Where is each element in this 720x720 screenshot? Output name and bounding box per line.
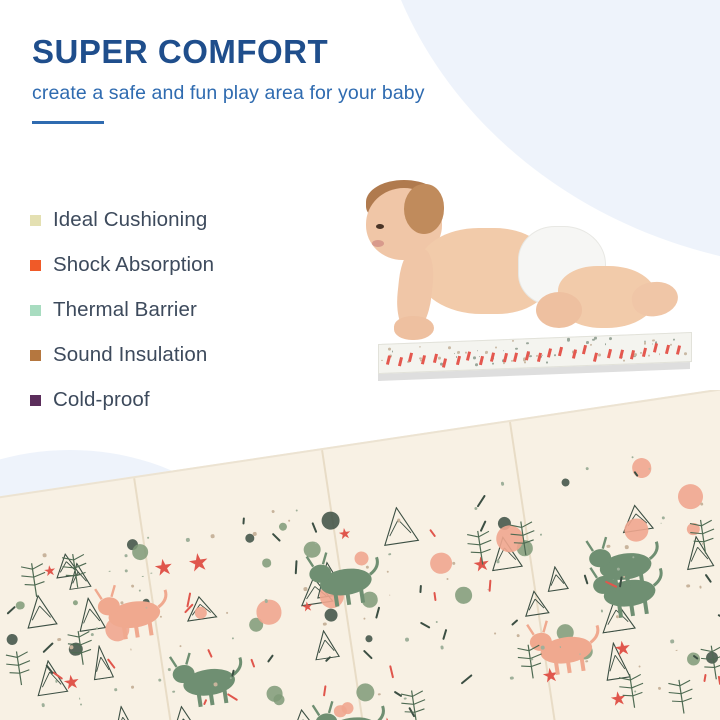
mat-speck [529, 355, 532, 358]
mat-dash-motif [419, 585, 422, 593]
mat-speck [512, 340, 514, 342]
mat-speck [657, 687, 660, 690]
mat-speck [323, 622, 327, 626]
mat-red-dash [513, 353, 518, 362]
mat-tree-motif [379, 504, 420, 546]
baby-mouth [372, 240, 384, 247]
mat-red-dash [408, 352, 413, 361]
baby-hair-top [404, 184, 444, 234]
mat-speck [392, 350, 393, 352]
mat-speck [80, 703, 83, 706]
mat-red-dash [386, 356, 391, 365]
mat-dash-motif [323, 685, 327, 696]
list-item: Ideal Cushioning [30, 208, 214, 232]
mat-speck [179, 645, 182, 648]
mat-speck [494, 632, 496, 634]
mat-speck [554, 354, 555, 356]
mat-tree-motif [109, 704, 138, 720]
mat-red-dash [433, 354, 438, 363]
mat-dash-motif [705, 574, 712, 583]
page-subtitle: create a safe and fun play area for your… [32, 82, 425, 105]
mat-speck [600, 609, 603, 612]
bullet-square-icon [30, 350, 41, 361]
mat-speck [124, 569, 128, 573]
mat-speck [623, 359, 625, 361]
mat-leaf-motif [61, 624, 101, 674]
mat-speck [661, 516, 665, 520]
mat-speck [598, 353, 601, 356]
mat-animal-motif [303, 691, 398, 720]
mat-speck [448, 346, 451, 349]
mat-leaf-motif [662, 673, 702, 720]
mat-speck [676, 649, 678, 651]
mat-speck [457, 351, 460, 354]
mat-speck [366, 565, 369, 568]
mat-red-dash [665, 345, 670, 354]
list-item: Cold-proof [30, 388, 214, 412]
mat-speck [125, 554, 128, 557]
mat-speck [419, 346, 420, 347]
mat-speck [503, 350, 504, 351]
mat-dash-motif [363, 650, 373, 660]
mat-speck [109, 570, 111, 572]
mat-red-dash [607, 349, 612, 358]
mat-speck [438, 357, 441, 360]
mat-speck [114, 688, 117, 691]
mat-leaf-motif [511, 638, 551, 688]
baby-hand [394, 316, 434, 340]
mat-speck [158, 678, 162, 682]
mat-speck [648, 354, 650, 356]
mat-star-motif: ★ [186, 550, 211, 577]
mat-speck [440, 646, 444, 650]
mat-speck [404, 637, 408, 641]
mat-speck [644, 342, 646, 345]
mat-red-dash [642, 348, 647, 357]
mat-surface-print: ★★★★★★★★★★★★★★★★ [0, 390, 720, 720]
mat-red-dash [582, 345, 587, 354]
mat-speck [606, 544, 610, 548]
mat-red-dash [479, 356, 484, 365]
mat-speck [452, 562, 455, 565]
mat-leaf-motif [55, 547, 95, 597]
mat-speck [609, 337, 612, 340]
mat-speck [90, 633, 93, 636]
mat-dash-motif [429, 529, 436, 537]
list-item: Thermal Barrier [30, 298, 214, 322]
mat-speck [659, 353, 661, 355]
mat-dash-motif [7, 605, 16, 614]
mat-speck [495, 346, 497, 348]
mat-dot-motif [262, 558, 271, 567]
mat-dot-motif [454, 586, 473, 605]
mat-speck [542, 354, 544, 356]
baby-photo [360, 170, 700, 380]
mat-speck [435, 621, 438, 624]
mat-star-motif: ★ [613, 639, 633, 661]
mat-dash-motif [311, 522, 317, 533]
mat-dot-motif [6, 633, 19, 646]
mat-leaf-motif [394, 684, 434, 720]
mat-dash-motif [375, 607, 380, 619]
mat-speck [397, 519, 401, 523]
list-item: Shock Absorption [30, 253, 214, 277]
mat-dash-motif [389, 665, 394, 678]
bullet-square-icon [30, 215, 41, 226]
mat-speck [546, 362, 547, 363]
mat-speck [252, 532, 256, 536]
mat-dash-motif [295, 561, 298, 575]
list-item: Sound Insulation [30, 343, 214, 367]
mat-speck [477, 350, 478, 351]
mat-speck [592, 339, 594, 342]
mat-red-dash [558, 347, 563, 356]
mat-red-dash [547, 348, 552, 357]
mat-speck [139, 590, 141, 592]
mat-speck [485, 352, 487, 354]
feature-label: Ideal Cushioning [53, 208, 207, 232]
mat-speck [652, 339, 654, 341]
mat-speck [232, 637, 234, 639]
mat-speck [475, 364, 477, 367]
mat-leaf-motif [15, 557, 55, 607]
mat-speck [131, 686, 134, 689]
baby-knee [536, 292, 582, 328]
mat-star-motif: ★ [337, 527, 352, 544]
mat-leaf-motif [504, 515, 544, 565]
mat-speck [473, 356, 476, 359]
mat-animal-motif [577, 526, 672, 603]
title-underline [32, 121, 104, 124]
mat-leaf-motif [460, 525, 500, 575]
mat-speck [700, 586, 702, 588]
mat-speck [586, 341, 589, 344]
mat-speck [387, 570, 389, 572]
baby-eye [376, 224, 384, 229]
mat-speck [684, 352, 687, 355]
mat-dash-motif [242, 518, 244, 525]
mat-speck [404, 697, 407, 700]
mat-red-dash [456, 356, 461, 365]
mat-red-dash [653, 343, 658, 352]
feature-label: Thermal Barrier [53, 298, 197, 322]
mat-dot-motif [676, 482, 705, 511]
mat-speck [567, 338, 570, 341]
bullet-square-icon [30, 260, 41, 271]
page-title: SUPER COMFORT [32, 34, 425, 70]
mat-speck [314, 542, 316, 544]
mat-speck [540, 534, 542, 536]
mat-speck [388, 348, 391, 351]
mat-speck [454, 353, 455, 354]
mat-dash-motif [251, 658, 256, 667]
mat-speck [700, 502, 703, 505]
mat-speck [381, 359, 383, 361]
mat-speck [388, 553, 391, 556]
mat-speck [120, 601, 123, 604]
mat-speck [41, 703, 45, 707]
feature-list: Ideal Cushioning Shock Absorption Therma… [30, 208, 214, 433]
mat-speck [363, 617, 365, 619]
mat-speck [147, 536, 149, 538]
mat-speck [226, 612, 228, 614]
mat-dash-motif [460, 674, 472, 685]
mat-red-dash [490, 352, 495, 361]
mat-speck [496, 559, 500, 563]
mat-dot-motif [429, 551, 454, 576]
mat-red-dash [397, 357, 402, 366]
product-mat: ★★★★★★★★★★★★★★★★ [0, 390, 720, 720]
mat-speck [585, 467, 589, 471]
feature-label: Cold-proof [53, 388, 150, 412]
mat-speck [229, 677, 232, 680]
mat-dash-motif [442, 629, 447, 640]
mat-speck [632, 456, 634, 458]
mat-speck [673, 338, 675, 340]
mat-speck [652, 343, 653, 344]
mat-speck [615, 615, 618, 618]
mat-speck [288, 520, 290, 522]
mat-dash-motif [488, 580, 491, 592]
mat-speck [446, 578, 449, 581]
mat-red-dash [619, 350, 624, 359]
feature-label: Sound Insulation [53, 343, 207, 367]
mat-speck [686, 584, 690, 588]
mat-leaf-motif [694, 639, 720, 689]
mat-speck [210, 534, 214, 538]
mat-dot-motif [273, 693, 286, 706]
mat-speck [492, 363, 494, 365]
mat-dash-motif [420, 622, 430, 629]
mat-leaf-motif [612, 667, 652, 717]
mat-tree-motif [522, 589, 551, 618]
mat-speck [623, 575, 625, 577]
mat-speck [524, 362, 526, 364]
mat-speck [186, 538, 190, 542]
mat-dot-motif [561, 477, 570, 486]
mat-red-dash [572, 349, 577, 358]
mat-dash-motif [43, 642, 54, 653]
mat-speck [515, 347, 518, 350]
mat-speck [57, 638, 61, 642]
mat-speck [625, 545, 629, 549]
mat-speck [660, 522, 662, 524]
mat-speck [79, 698, 81, 700]
mat-dot-motif [365, 635, 373, 643]
mat-speck [141, 575, 143, 577]
mat-red-dash [676, 345, 681, 354]
mat-leaf-motif [683, 513, 720, 563]
mat-red-dash [593, 352, 598, 361]
mat-leaf-motif [0, 645, 39, 695]
mat-speck [670, 639, 674, 643]
mat-speck [510, 676, 514, 680]
mat-speck [590, 343, 593, 346]
mat-dash-motif [272, 533, 282, 542]
mat-speck [500, 482, 504, 486]
mat-dot-motif [279, 522, 288, 531]
mat-red-dash [442, 358, 447, 367]
mat-star-motif: ★ [62, 673, 82, 695]
mat-speck [474, 507, 478, 511]
bullet-square-icon [30, 305, 41, 316]
mat-red-dash [503, 353, 508, 362]
mat-red-dash [630, 350, 635, 359]
bullet-square-icon [30, 395, 41, 406]
mat-speck [151, 572, 153, 574]
mat-speck [96, 627, 98, 629]
mat-speck [130, 648, 132, 650]
mat-tree-motif [544, 565, 569, 593]
mat-speck [271, 510, 275, 514]
product-feature-banner: SUPER COMFORT create a safe and fun play… [0, 0, 720, 720]
feature-label: Shock Absorption [53, 253, 214, 277]
mat-speck [526, 342, 528, 344]
mat-speck [605, 344, 607, 346]
mat-speck [42, 553, 46, 557]
mat-dash-motif [434, 592, 437, 601]
header: SUPER COMFORT create a safe and fun play… [32, 34, 425, 124]
mat-dash-motif [267, 654, 274, 663]
mat-speck [378, 693, 381, 696]
mat-dash-motif [477, 494, 486, 507]
mat-speck [296, 509, 298, 511]
mat-tree-motif [311, 628, 341, 661]
